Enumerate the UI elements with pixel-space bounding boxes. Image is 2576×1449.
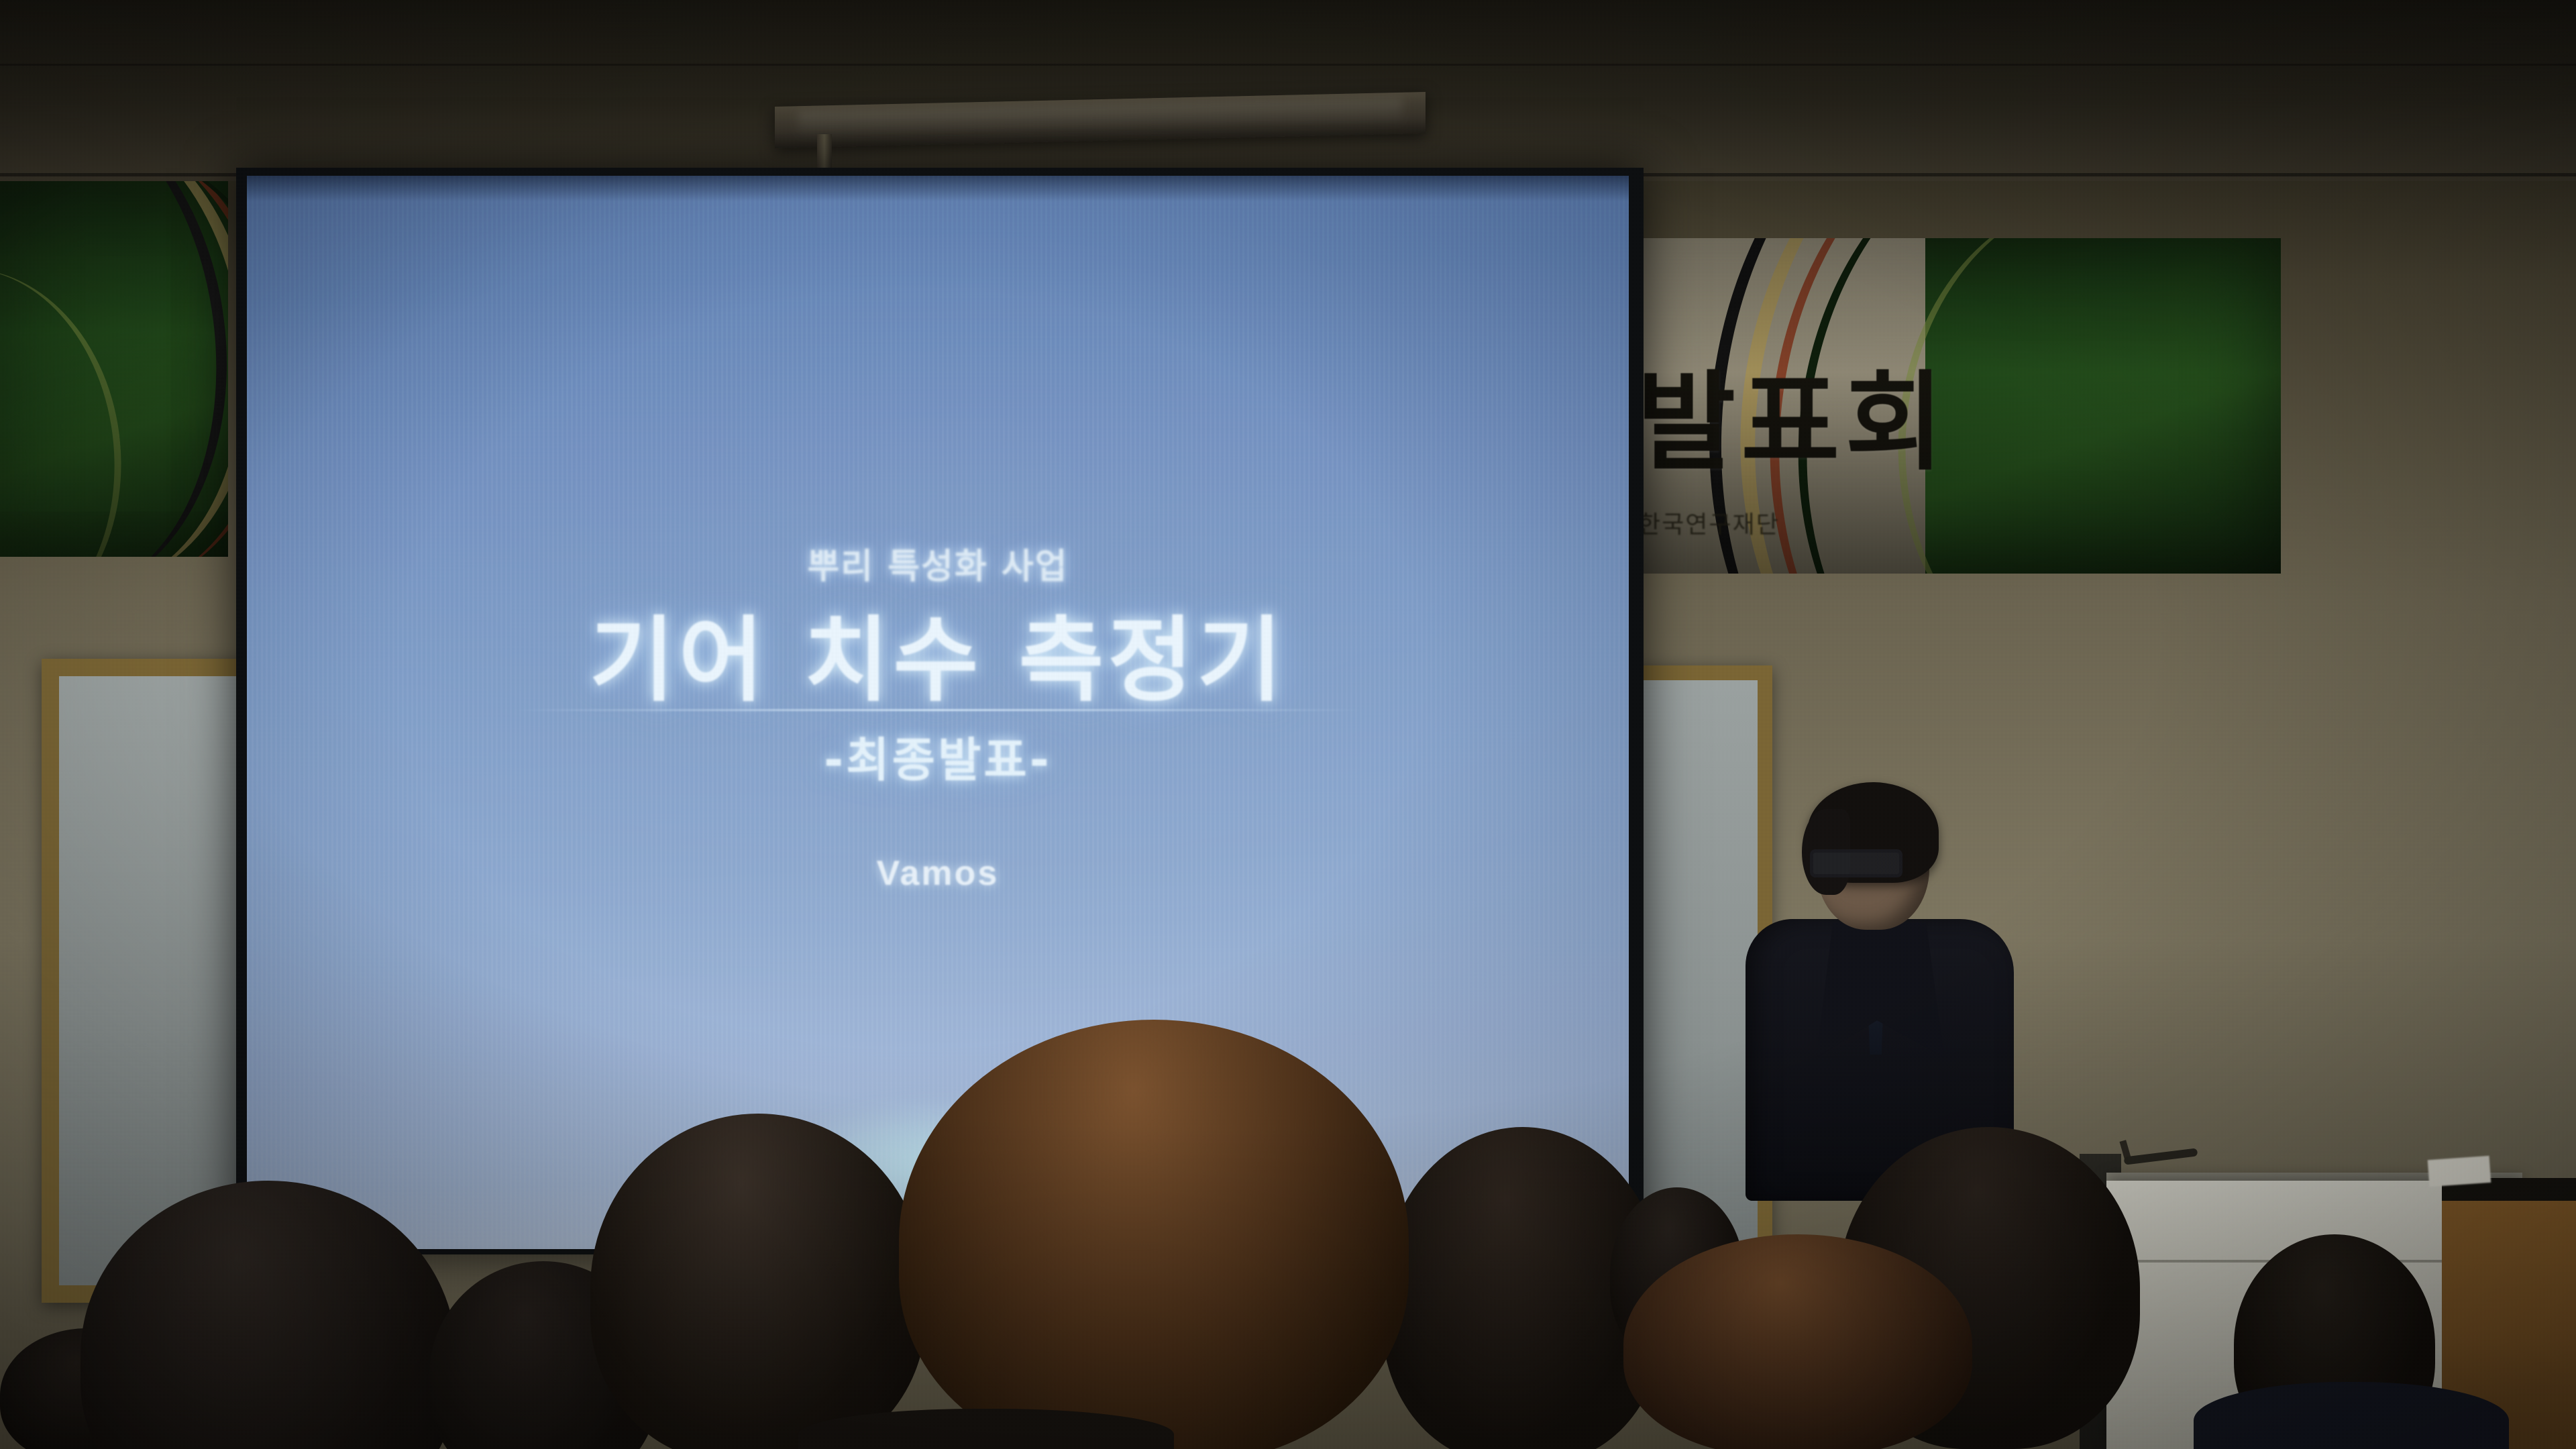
audience-head bbox=[899, 1020, 1409, 1449]
ceiling bbox=[0, 0, 2576, 181]
projection-screen: 뿌리 특성화 사업 기어 치수 측정기 -최종발표- Vamos 지도교수 발표… bbox=[247, 176, 1629, 1249]
audience-head bbox=[590, 1114, 926, 1449]
glasses-icon bbox=[1810, 849, 1902, 877]
banner-right: 발표회 한국연구재단 bbox=[1610, 238, 2281, 574]
screen-vignette bbox=[247, 176, 1629, 1249]
audience-head bbox=[1623, 1234, 1972, 1449]
banner-subline: 한국연구재단 bbox=[1638, 505, 1780, 540]
audience-shoulder bbox=[2194, 1382, 2509, 1449]
photo-scene: 발표회 한국연구재단 뿌리 특성화 사업 기어 치수 측정기 -최종발표- Va… bbox=[0, 0, 2576, 1449]
podium-paper-sheet bbox=[2428, 1156, 2491, 1187]
ceiling-seam-upper bbox=[0, 64, 2576, 66]
banner-headline: 발표회 bbox=[1637, 335, 1949, 491]
banner-left bbox=[0, 181, 228, 557]
